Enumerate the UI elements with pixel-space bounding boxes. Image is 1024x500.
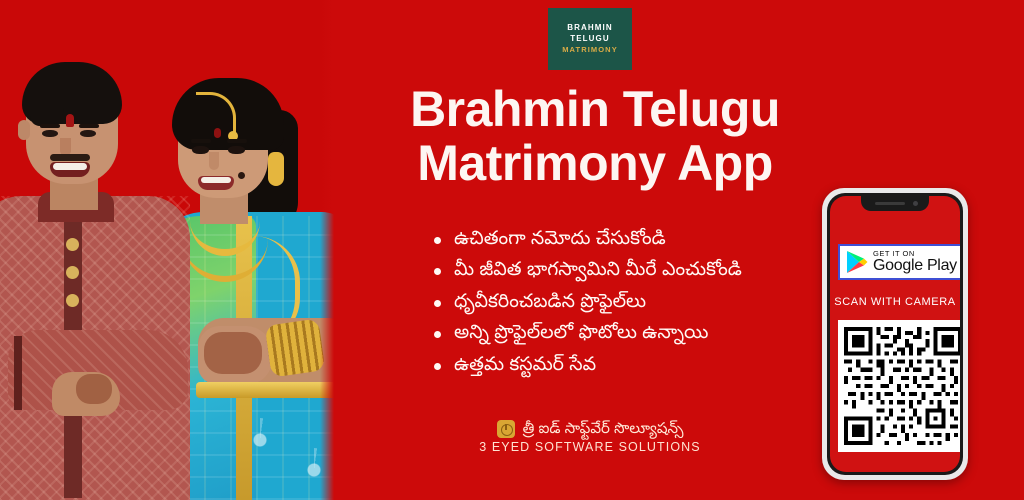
man-hand	[52, 372, 120, 416]
google-play-badge[interactable]: GET IT ON Google Play	[838, 244, 960, 280]
logo-line-matrimony: MATRIMONY	[562, 46, 618, 54]
man-eye	[80, 130, 96, 137]
phone-bezel: GET IT ON Google Play SCAN WITH CAMERA	[827, 193, 963, 475]
man-sherwani-button	[66, 266, 79, 279]
google-play-text: GET IT ON Google Play	[873, 250, 957, 275]
woman-eyebrow	[191, 139, 211, 143]
woman-gold-waistband	[196, 382, 334, 398]
list-item: అన్ని ప్రొఫైల్‌లలో ఫొటోలు ఉన్నాయి	[430, 320, 830, 345]
phone-screen: GET IT ON Google Play SCAN WITH CAMERA	[830, 196, 960, 472]
front-camera-icon	[913, 201, 918, 206]
phone-notch	[861, 196, 929, 211]
man-moustache	[50, 154, 90, 161]
google-play-wordmark: Google Play	[873, 258, 957, 274]
qr-code[interactable]	[844, 326, 960, 446]
qr-code-container[interactable]	[838, 320, 960, 452]
woman-eye	[192, 146, 209, 154]
woman-nose	[209, 152, 219, 170]
saree-motif	[238, 418, 282, 462]
credit-telugu-text: త్రీ ఐడ్ సాఫ్ట్‌వేర్ సొల్యూషన్స్	[523, 420, 684, 438]
man-sherwani-button	[66, 238, 79, 251]
footer-credit: త్రీ ఐడ్ సాఫ్ట్‌వేర్ సొల్యూషన్స్ 3 EYED …	[470, 420, 710, 454]
woman-beauty-mark	[238, 172, 245, 179]
couple-wedding-photo	[0, 0, 334, 500]
list-item: ఉచితంగా నమోదు చేసుకోండి	[430, 226, 830, 251]
woman-bindi	[214, 128, 221, 138]
list-item: ధృవీకరించబడిన ప్రొఫైల్‌లు	[430, 289, 830, 314]
man-smile	[50, 162, 90, 177]
logo-line-brahmin: BRAHMIN	[567, 24, 612, 32]
brahmin-telugu-matrimony-logo: BRAHMIN TELUGU MATRIMONY	[548, 8, 632, 70]
phone-mockup: GET IT ON Google Play SCAN WITH CAMERA	[822, 188, 968, 480]
eye-clock-mark-icon	[497, 420, 515, 438]
man-teeth	[53, 163, 87, 170]
man-tilak	[66, 114, 74, 127]
logo-line-telugu: TELUGU	[570, 35, 610, 43]
scan-with-camera-label: SCAN WITH CAMERA	[830, 296, 960, 308]
list-item: ఉత్తమ కస్టమర్ సేవ	[430, 352, 830, 377]
earpiece-speaker-icon	[875, 202, 905, 205]
woman-teeth	[201, 177, 231, 183]
woman-henna-hand	[198, 326, 272, 384]
woman-smile	[198, 176, 234, 190]
photo-edge-fade	[320, 0, 334, 500]
woman-eye	[228, 146, 245, 154]
man-ear	[18, 120, 30, 140]
man-sherwani-button	[66, 294, 79, 307]
feature-list: ఉచితంగా నమోదు చేసుకోండి మీ జీవిత భాగస్వా…	[430, 226, 830, 383]
woman-earring	[268, 152, 284, 186]
google-play-get-it-on: GET IT ON	[873, 250, 957, 258]
man-eye	[42, 130, 58, 137]
headline-line-1: Brahmin Telugu	[410, 81, 780, 137]
man-sleeve-cuff	[14, 336, 22, 410]
google-play-icon	[846, 250, 868, 274]
matrimony-app-promo-banner: BRAHMIN TELUGU MATRIMONY Brahmin Telugu …	[0, 0, 1024, 500]
woman-eyebrow	[227, 139, 247, 143]
man-eyebrow	[79, 124, 99, 128]
man-eyebrow	[40, 124, 60, 128]
list-item: మీ జీవిత భాగస్వామిని మీరే ఎంచుకోండి	[430, 257, 830, 282]
headline-line-2: Matrimony App	[417, 135, 773, 191]
credit-english-text: 3 EYED SOFTWARE SOLUTIONS	[479, 440, 701, 454]
woman-bangles	[265, 318, 326, 377]
credit-row: త్రీ ఐడ్ సాఫ్ట్‌వేర్ సొల్యూషన్స్	[497, 420, 684, 438]
page-title: Brahmin Telugu Matrimony App	[360, 82, 830, 190]
